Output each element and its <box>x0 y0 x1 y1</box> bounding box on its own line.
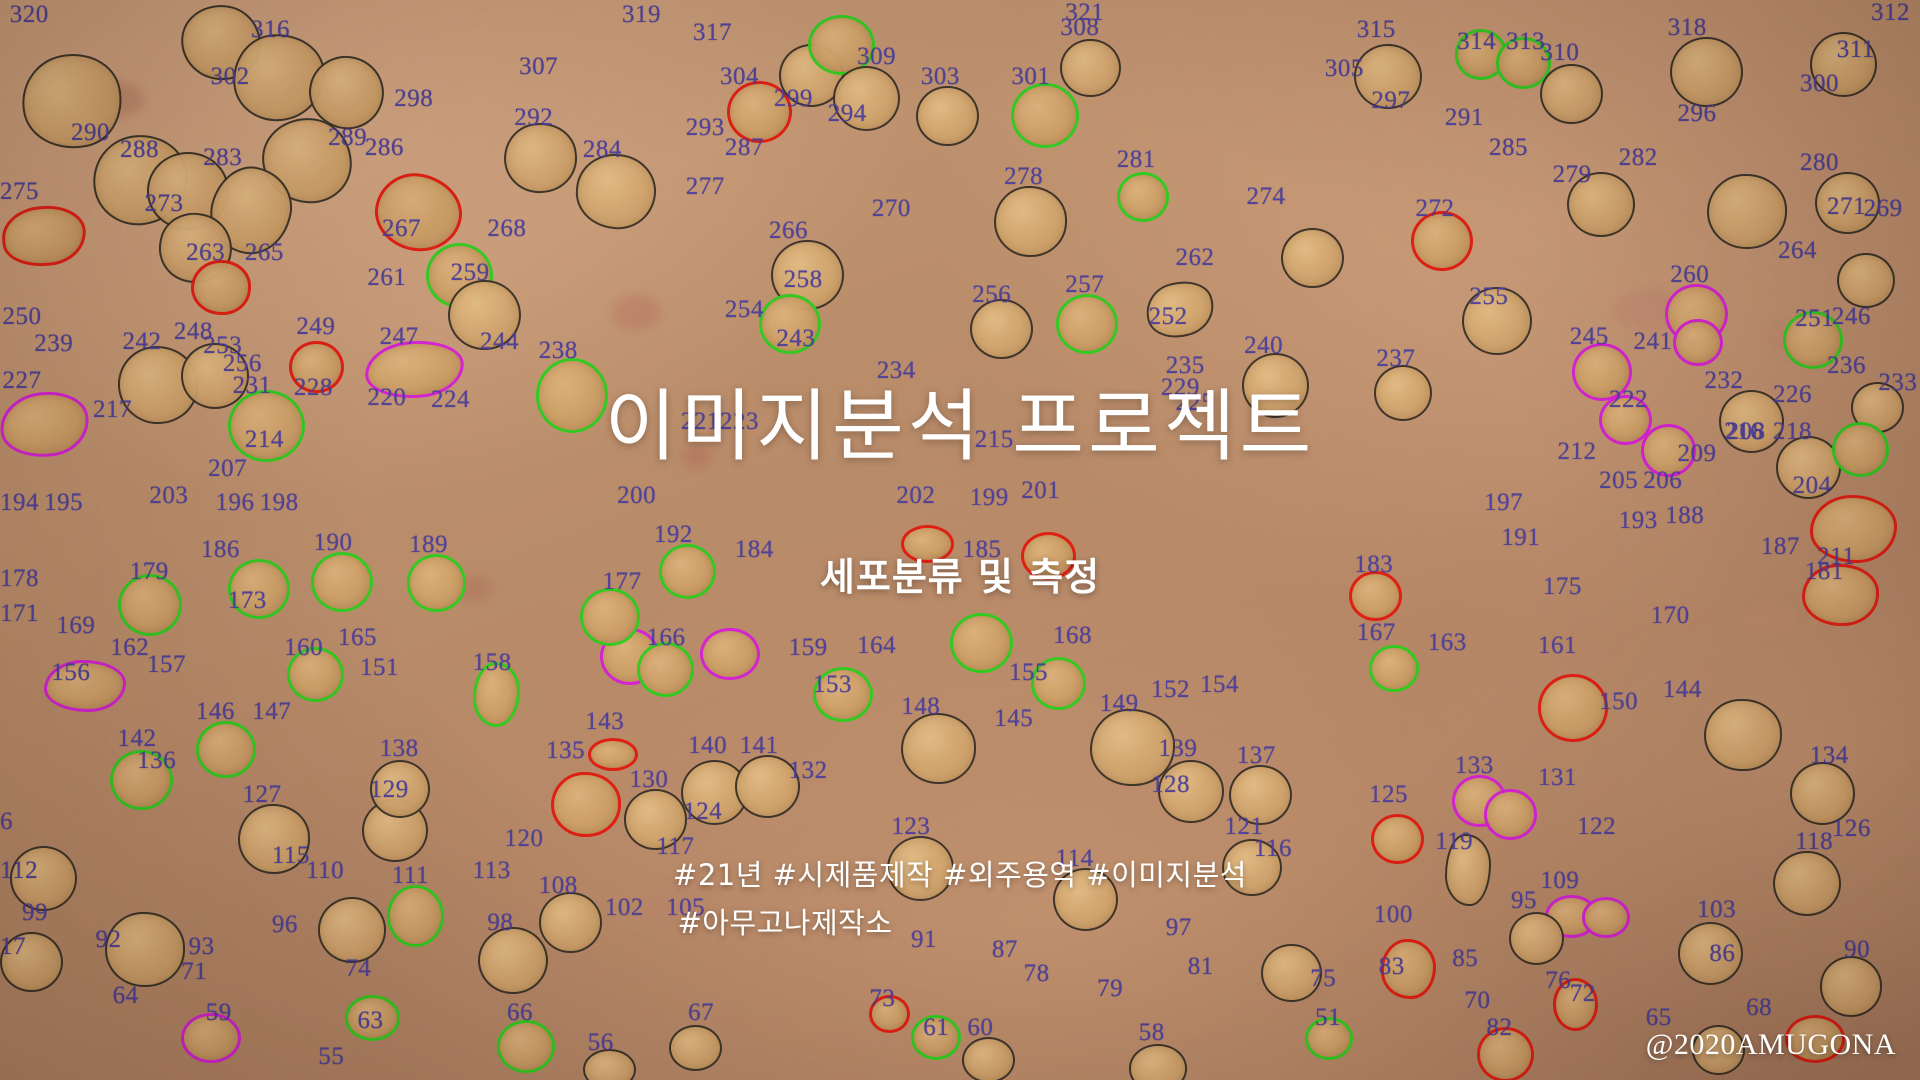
tagline-text-1: #21년 #시제품제작 #외주용역 #이미지분석 <box>673 861 1247 890</box>
page-title: 이미지분석 프로젝트 <box>0 388 1920 466</box>
watermark: @2020AMUGONA <box>1646 1028 1896 1062</box>
slide-canvas: 3203163193173213083153143133103183123113… <box>0 0 1920 1080</box>
tagline-line-2: #아무고나제작소 <box>0 909 1920 938</box>
tagline-text-2: #아무고나제작소 <box>677 909 892 938</box>
tagline-line-1: #21년 #시제품제작 #외주용역 #이미지분석 <box>0 861 1920 890</box>
title-overlay: 이미지분석 프로젝트 세포분류 및 측정 #21년 #시제품제작 #외주용역 #… <box>0 0 1920 1080</box>
page-subtitle: 세포분류 및 측정 <box>0 558 1920 596</box>
